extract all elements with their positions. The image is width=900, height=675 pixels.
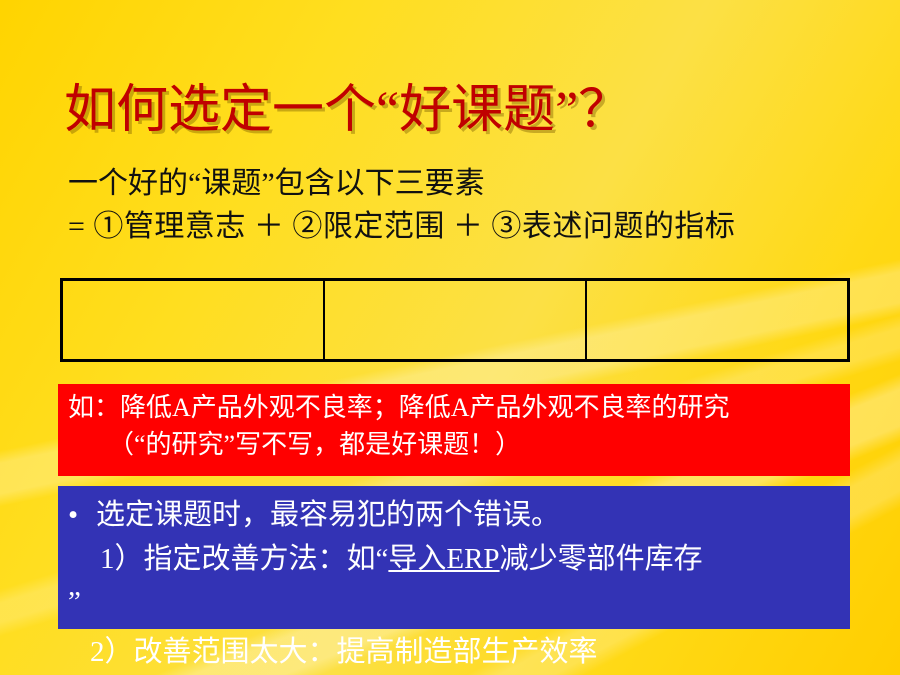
blue-callout-line-2-row: 1）指定改善方法：如“导入ERP减少零部件库存 — [68, 538, 840, 582]
blue-callout-line-2-suffix: 减少零部件库存 — [500, 543, 703, 575]
blue-callout-line-2-underlined: 导入ERP — [388, 543, 499, 575]
subtitle-block: 一个好的“课题”包含以下三要素 = ①管理意志 ＋ ②限定范围 ＋ ③表述问题的… — [68, 163, 735, 248]
table-cell-1 — [63, 281, 325, 359]
bullet-point-icon: • — [68, 494, 96, 538]
three-element-table — [60, 278, 850, 362]
subtitle-line-2: = ①管理意志 ＋ ②限定范围 ＋ ③表述问题的指标 — [68, 206, 735, 249]
blue-callout-line-1: 选定课题时，最容易犯的两个错误。 — [96, 499, 560, 531]
blue-callout-line-3: ” — [68, 581, 840, 625]
page-title: 如何选定一个“好课题”？ — [64, 84, 630, 139]
red-callout-line-2: （“的研究”写不写，都是好课题！） — [68, 427, 840, 464]
red-callout-line-1: 如：降低A产品外观不良率；降低A产品外观不良率的研究 — [68, 390, 840, 427]
blue-callout-line-1-row: •选定课题时，最容易犯的两个错误。 — [68, 494, 840, 538]
trailing-mistake-line: 2）改善范围太大：提高制造部生产效率 — [90, 632, 598, 673]
slide-canvas: 如何选定一个“好课题”？ 一个好的“课题”包含以下三要素 = ①管理意志 ＋ ②… — [0, 0, 900, 675]
table-cell-2 — [325, 281, 587, 359]
table-cell-3 — [587, 281, 847, 359]
red-example-callout: 如：降低A产品外观不良率；降低A产品外观不良率的研究 （“的研究”写不写，都是好… — [58, 384, 850, 476]
blue-callout-line-2-prefix: 1）指定改善方法：如“ — [100, 543, 388, 575]
subtitle-line-1: 一个好的“课题”包含以下三要素 — [68, 163, 735, 206]
blue-mistakes-callout: •选定课题时，最容易犯的两个错误。 1）指定改善方法：如“导入ERP减少零部件库… — [58, 486, 850, 629]
